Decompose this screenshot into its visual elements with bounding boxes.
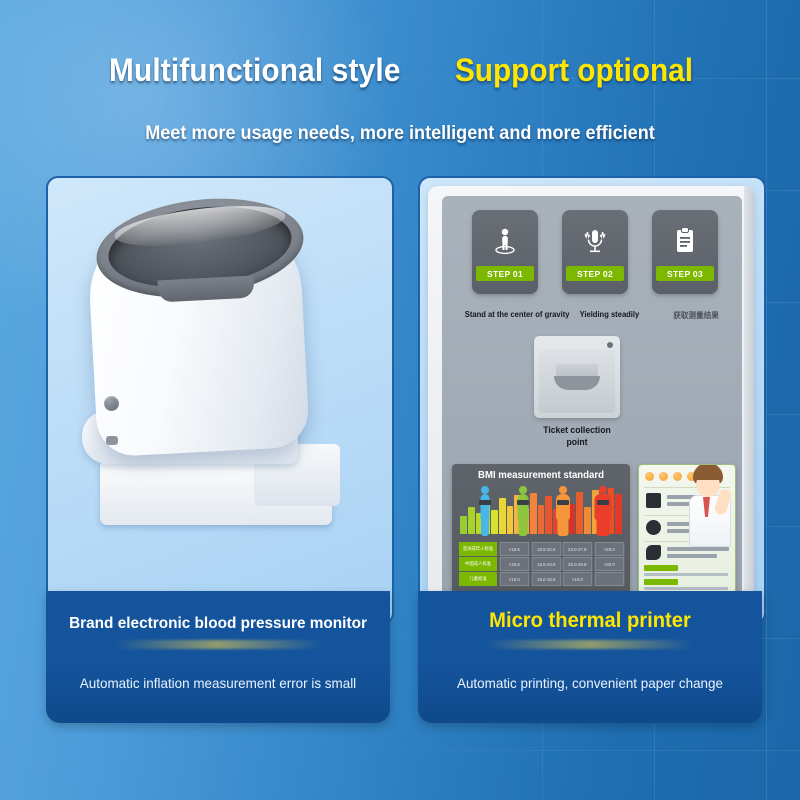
bmi-body-figure: [474, 486, 496, 536]
bmi-chart-panel: BMI measurement standard 亚洲成年人标准<18.518.…: [452, 464, 630, 594]
card-caption-title: Brand electronic blood pressure monitor: [53, 615, 383, 633]
kiosk-photo-panel: STEP 01: [418, 176, 766, 625]
step-tile-3[interactable]: STEP 03: [652, 210, 718, 294]
bmi-table-cell: >19.0: [563, 572, 592, 586]
bmi-table-cell: 15.0-18.9: [531, 572, 560, 586]
bmi-table-cell: 18.5-22.9: [531, 542, 560, 556]
kiosk-side-edge: [744, 186, 754, 611]
step-tile-1[interactable]: STEP 01: [472, 210, 538, 294]
product-photo-panel: [46, 176, 394, 625]
bmi-table-cell: >30.0: [594, 557, 623, 571]
bmi-row-label: 亚洲成年人标准: [459, 542, 497, 556]
bmi-table-row: 亚洲成年人标准<18.518.5-22.923.0-27.9>28.0: [458, 542, 624, 556]
bmi-table-cell: <18.5: [500, 557, 529, 571]
doctor-character-illustration: [681, 464, 736, 547]
info-section-label: [644, 579, 678, 585]
bmi-row-label: 中国成人标准: [459, 557, 497, 571]
bmi-body-figure: [552, 486, 574, 536]
person-standing-icon: [472, 220, 538, 262]
info-fine-print: [644, 573, 728, 576]
falling-person-icon: [646, 493, 661, 508]
card-caption-subtitle: Automatic inflation measurement error is…: [53, 675, 383, 691]
bmi-body-figure: [512, 486, 534, 536]
product-card-thermal-printer[interactable]: STEP 01: [418, 176, 762, 723]
bmi-figure-row: [460, 484, 622, 536]
poster-canvas: Multifunctional style Support optional M…: [0, 0, 800, 800]
caption-underline-glow: [114, 640, 322, 649]
bmi-table-cell: 25.0-29.9: [563, 557, 592, 571]
info-dot-icon: [645, 472, 654, 481]
device-power-button: [104, 396, 119, 411]
info-section-label: [644, 565, 678, 571]
ticket-label-line2: point: [566, 437, 587, 447]
step-caption-3: 获取测量结果: [673, 310, 719, 321]
kiosk-screen: STEP 01: [442, 196, 742, 603]
bmi-table-cell: <15.0: [500, 572, 529, 586]
headline-main: Multifunctional style: [109, 52, 401, 89]
bmi-body-figure: [592, 486, 614, 536]
bmi-row-label: 儿童标准: [459, 572, 497, 586]
bmi-standard-table: 亚洲成年人标准<18.518.5-22.923.0-27.9>28.0中国成人标…: [458, 542, 624, 588]
step-caption-1: Stand at the center of gravity: [465, 310, 570, 319]
card-caption-subtitle: Automatic printing, convenient paper cha…: [425, 675, 755, 691]
bmi-table-cell: -: [594, 572, 623, 586]
info-fine-print: [644, 587, 728, 590]
bmi-table-cell: <18.5: [500, 542, 529, 556]
headline-accent: Support optional: [455, 52, 693, 89]
step-badge-1: STEP 01: [476, 266, 534, 281]
info-dot-icon: [659, 472, 668, 481]
bmi-table-cell: 23.0-27.9: [563, 542, 592, 556]
info-text-line: [667, 547, 729, 551]
product-card-blood-pressure-monitor[interactable]: Brand electronic blood pressure monitor …: [46, 176, 390, 723]
printer-handle: [554, 376, 600, 390]
step-badge-2: STEP 02: [566, 266, 624, 281]
step-badge-3: STEP 03: [656, 266, 714, 281]
step-tile-2[interactable]: STEP 02: [562, 210, 628, 294]
subheadline: Meet more usage needs, more intelligent …: [20, 123, 780, 145]
back-pain-icon: [646, 545, 661, 560]
step-caption-2: Yielding steadily: [580, 310, 640, 319]
card-caption-panel: Micro thermal printer Automatic printing…: [418, 591, 762, 723]
bmi-chart-title: BMI measurement standard: [456, 470, 627, 481]
health-info-card: [638, 464, 736, 596]
card-caption-panel: Brand electronic blood pressure monitor …: [46, 591, 390, 723]
step-row: STEP 01: [456, 210, 728, 294]
info-text-line: [667, 554, 717, 558]
bmi-table-cell: >28.0: [594, 542, 623, 556]
printer-status-led: [607, 342, 613, 348]
printer-module: [534, 336, 620, 418]
card-caption-title: Micro thermal printer: [425, 609, 755, 633]
bmi-table-row: 儿童标准<15.015.0-18.9>19.0-: [458, 572, 624, 586]
ticket-collection-label: Ticket collection point: [500, 424, 654, 448]
bmi-table-cell: 18.5-24.9: [531, 557, 560, 571]
headline-row: Multifunctional style Support optional: [0, 52, 800, 89]
doctor-fringe: [694, 469, 722, 480]
device-port: [106, 436, 118, 445]
ticket-label-line1: Ticket collection: [543, 425, 611, 435]
clipboard-icon: [652, 220, 718, 262]
dizzy-person-icon: [646, 520, 661, 535]
caption-underline-glow: [486, 640, 694, 649]
kiosk-body: STEP 01: [428, 186, 754, 611]
bmi-table-row: 中国成人标准<18.518.5-24.925.0-29.9>30.0: [458, 557, 624, 571]
microphone-icon: [562, 220, 628, 262]
